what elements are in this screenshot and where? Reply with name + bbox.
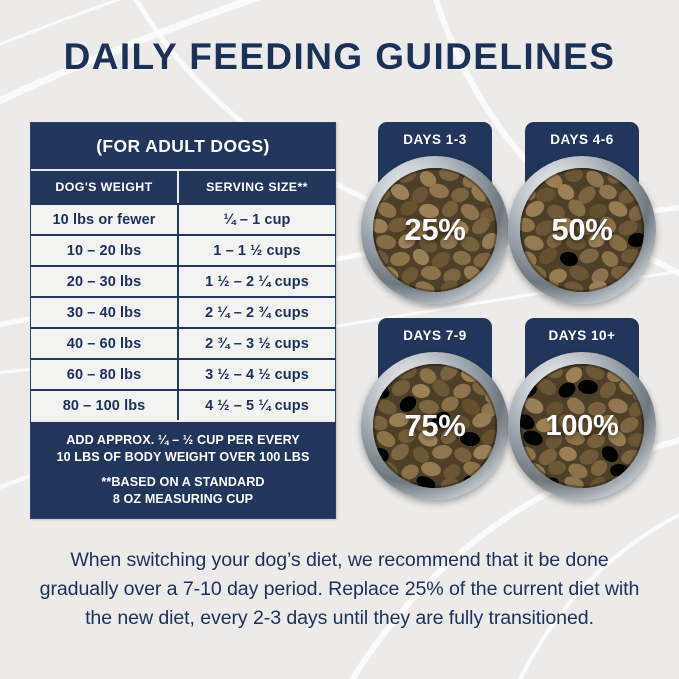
cell-serving: ¼ – 1 cup xyxy=(179,205,335,234)
page-title: DAILY FEEDING GUIDELINES xyxy=(0,38,679,75)
stage-label: DAYS 10+ xyxy=(525,328,639,343)
table-row: 40 – 60 lbs 2 ¾ – 3 ½ cups xyxy=(31,327,335,358)
stage-percent: 25% xyxy=(361,156,509,304)
table-footer-line-2: 10 LBS OF BODY WEIGHT OVER 100 LBS xyxy=(37,449,329,466)
cell-weight: 80 – 100 lbs xyxy=(31,391,179,420)
table-footer: ADD APPROX. ¼ – ½ CUP PER EVERY 10 LBS O… xyxy=(31,420,335,518)
cell-serving: 1 ½ – 2 ¼ cups xyxy=(179,267,335,296)
table-row: 10 – 20 lbs 1 – 1 ½ cups xyxy=(31,234,335,265)
table-footnote-line-1: **BASED ON A STANDARD xyxy=(37,474,329,491)
stage-percent: 100% xyxy=(508,352,656,500)
table-row: 60 – 80 lbs 3 ½ – 4 ½ cups xyxy=(31,358,335,389)
infographic-root: DAILY FEEDING GUIDELINES (FOR ADULT DOGS… xyxy=(0,0,679,679)
dog-bowl-icon: 25% xyxy=(361,156,509,304)
table-row: 80 – 100 lbs 4 ½ – 5 ¼ cups xyxy=(31,389,335,420)
cell-weight: 40 – 60 lbs xyxy=(31,329,179,358)
cell-weight: 30 – 40 lbs xyxy=(31,298,179,327)
table-header-row: DOG'S WEIGHT SERVING SIZE** xyxy=(31,169,335,203)
table-row: 20 – 30 lbs 1 ½ – 2 ¼ cups xyxy=(31,265,335,296)
column-header-serving: SERVING SIZE** xyxy=(179,171,335,203)
table-footnote: **BASED ON A STANDARD 8 OZ MEASURING CUP xyxy=(37,474,329,507)
cell-serving: 2 ¾ – 3 ½ cups xyxy=(179,329,335,358)
stage-percent: 75% xyxy=(361,352,509,500)
stage-label: DAYS 1-3 xyxy=(378,132,492,147)
dog-bowl-icon: 75% xyxy=(361,352,509,500)
table-footer-line-1: ADD APPROX. ¼ – ½ CUP PER EVERY xyxy=(37,432,329,449)
cell-weight: 60 – 80 lbs xyxy=(31,360,179,389)
column-header-weight: DOG'S WEIGHT xyxy=(31,171,179,203)
cell-weight: 20 – 30 lbs xyxy=(31,267,179,296)
cell-serving: 2 ¼ – 2 ¾ cups xyxy=(179,298,335,327)
transition-instructions: When switching your dog’s diet, we recom… xyxy=(38,546,641,632)
table-row: 30 – 40 lbs 2 ¼ – 2 ¾ cups xyxy=(31,296,335,327)
table-row: 10 lbs or fewer ¼ – 1 cup xyxy=(31,203,335,234)
feeding-guidelines-table: (FOR ADULT DOGS) DOG'S WEIGHT SERVING SI… xyxy=(30,122,336,519)
table-footnote-line-2: 8 OZ MEASURING CUP xyxy=(37,491,329,508)
cell-weight: 10 lbs or fewer xyxy=(31,205,179,234)
stage-label: DAYS 7-9 xyxy=(378,328,492,343)
cell-serving: 1 – 1 ½ cups xyxy=(179,236,335,265)
cell-serving: 3 ½ – 4 ½ cups xyxy=(179,360,335,389)
dog-bowl-icon: 100% xyxy=(508,352,656,500)
stage-percent: 50% xyxy=(508,156,656,304)
table-title: (FOR ADULT DOGS) xyxy=(31,123,335,169)
cell-weight: 10 – 20 lbs xyxy=(31,236,179,265)
dog-bowl-icon: 50% xyxy=(508,156,656,304)
stage-label: DAYS 4-6 xyxy=(525,132,639,147)
cell-serving: 4 ½ – 5 ¼ cups xyxy=(179,391,335,420)
